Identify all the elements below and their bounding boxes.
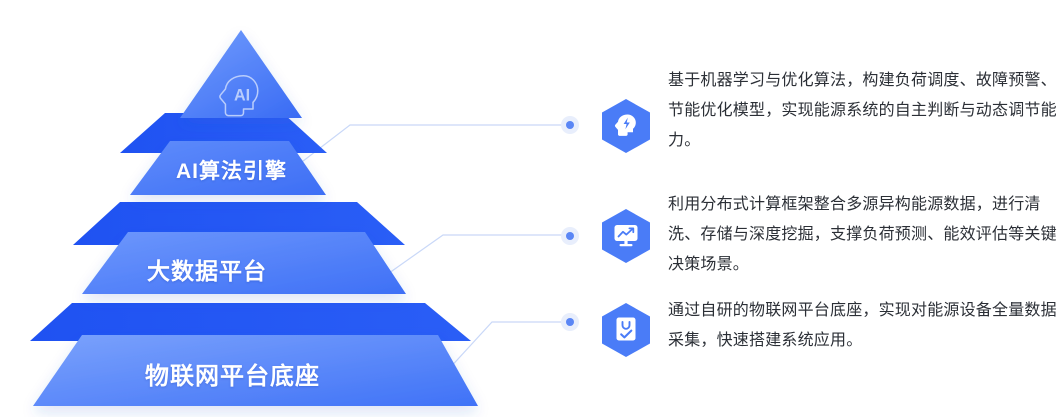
- connector-dot-ring-3: [561, 313, 579, 331]
- pyramid-apex[interactable]: AI: [180, 30, 302, 118]
- feature-row-ai: 基于机器学习与优化算法，构建负荷调度、故障预警、节能优化模型，实现能源系统的自主…: [600, 66, 1062, 156]
- feature-row-bigdata: 利用分布式计算框架整合多源异构能源数据，进行清洗、存储与深度挖掘，支撑负荷预测、…: [600, 190, 1062, 280]
- hex-badge-iot: [600, 302, 652, 358]
- feature-description-bigdata: 利用分布式计算框架整合多源异构能源数据，进行清洗、存储与深度挖掘，支撑负荷预测、…: [668, 190, 1062, 280]
- connector-dot-1: [561, 116, 579, 134]
- apex-triangle: [180, 30, 302, 118]
- connector-dot-2: [561, 227, 579, 245]
- hex-badge-ai: [600, 98, 652, 154]
- monitor-chart-icon: [612, 221, 640, 249]
- feature-description-ai: 基于机器学习与优化算法，构建负荷调度、故障预警、节能优化模型，实现能源系统的自主…: [668, 66, 1062, 156]
- document-check-icon: [612, 315, 640, 343]
- pyramid-layer-iot[interactable]: [30, 303, 478, 406]
- connector-dot-core-2: [566, 232, 574, 240]
- infographic-stage: AI AI算法引擎 大数据平台 物联网平台底座 基于: [0, 0, 1062, 417]
- svg-text:AI: AI: [234, 86, 250, 104]
- connector-dot-3: [561, 313, 579, 331]
- layer-bigdata-front-face: [82, 232, 406, 294]
- pyramid-layer-bigdata[interactable]: [73, 202, 406, 294]
- pyramid-layer-ai[interactable]: [120, 113, 327, 195]
- connector-dot-ring-1: [561, 116, 579, 134]
- brain-bolt-icon: [612, 111, 640, 139]
- hex-badge-bigdata: [600, 208, 652, 264]
- connector-dot-core-1: [566, 121, 574, 129]
- layer-iot-front-face: [33, 335, 478, 406]
- feature-row-iot: 通过自研的物联网平台底座，实现对能源设备全量数据采集，快速搭建系统应用。: [600, 296, 1062, 358]
- pyramid-diagram: AI: [0, 0, 660, 417]
- connector-dot-core-3: [566, 318, 574, 326]
- feature-description-iot: 通过自研的物联网平台底座，实现对能源设备全量数据采集，快速搭建系统应用。: [668, 296, 1062, 356]
- connector-dot-ring-2: [561, 227, 579, 245]
